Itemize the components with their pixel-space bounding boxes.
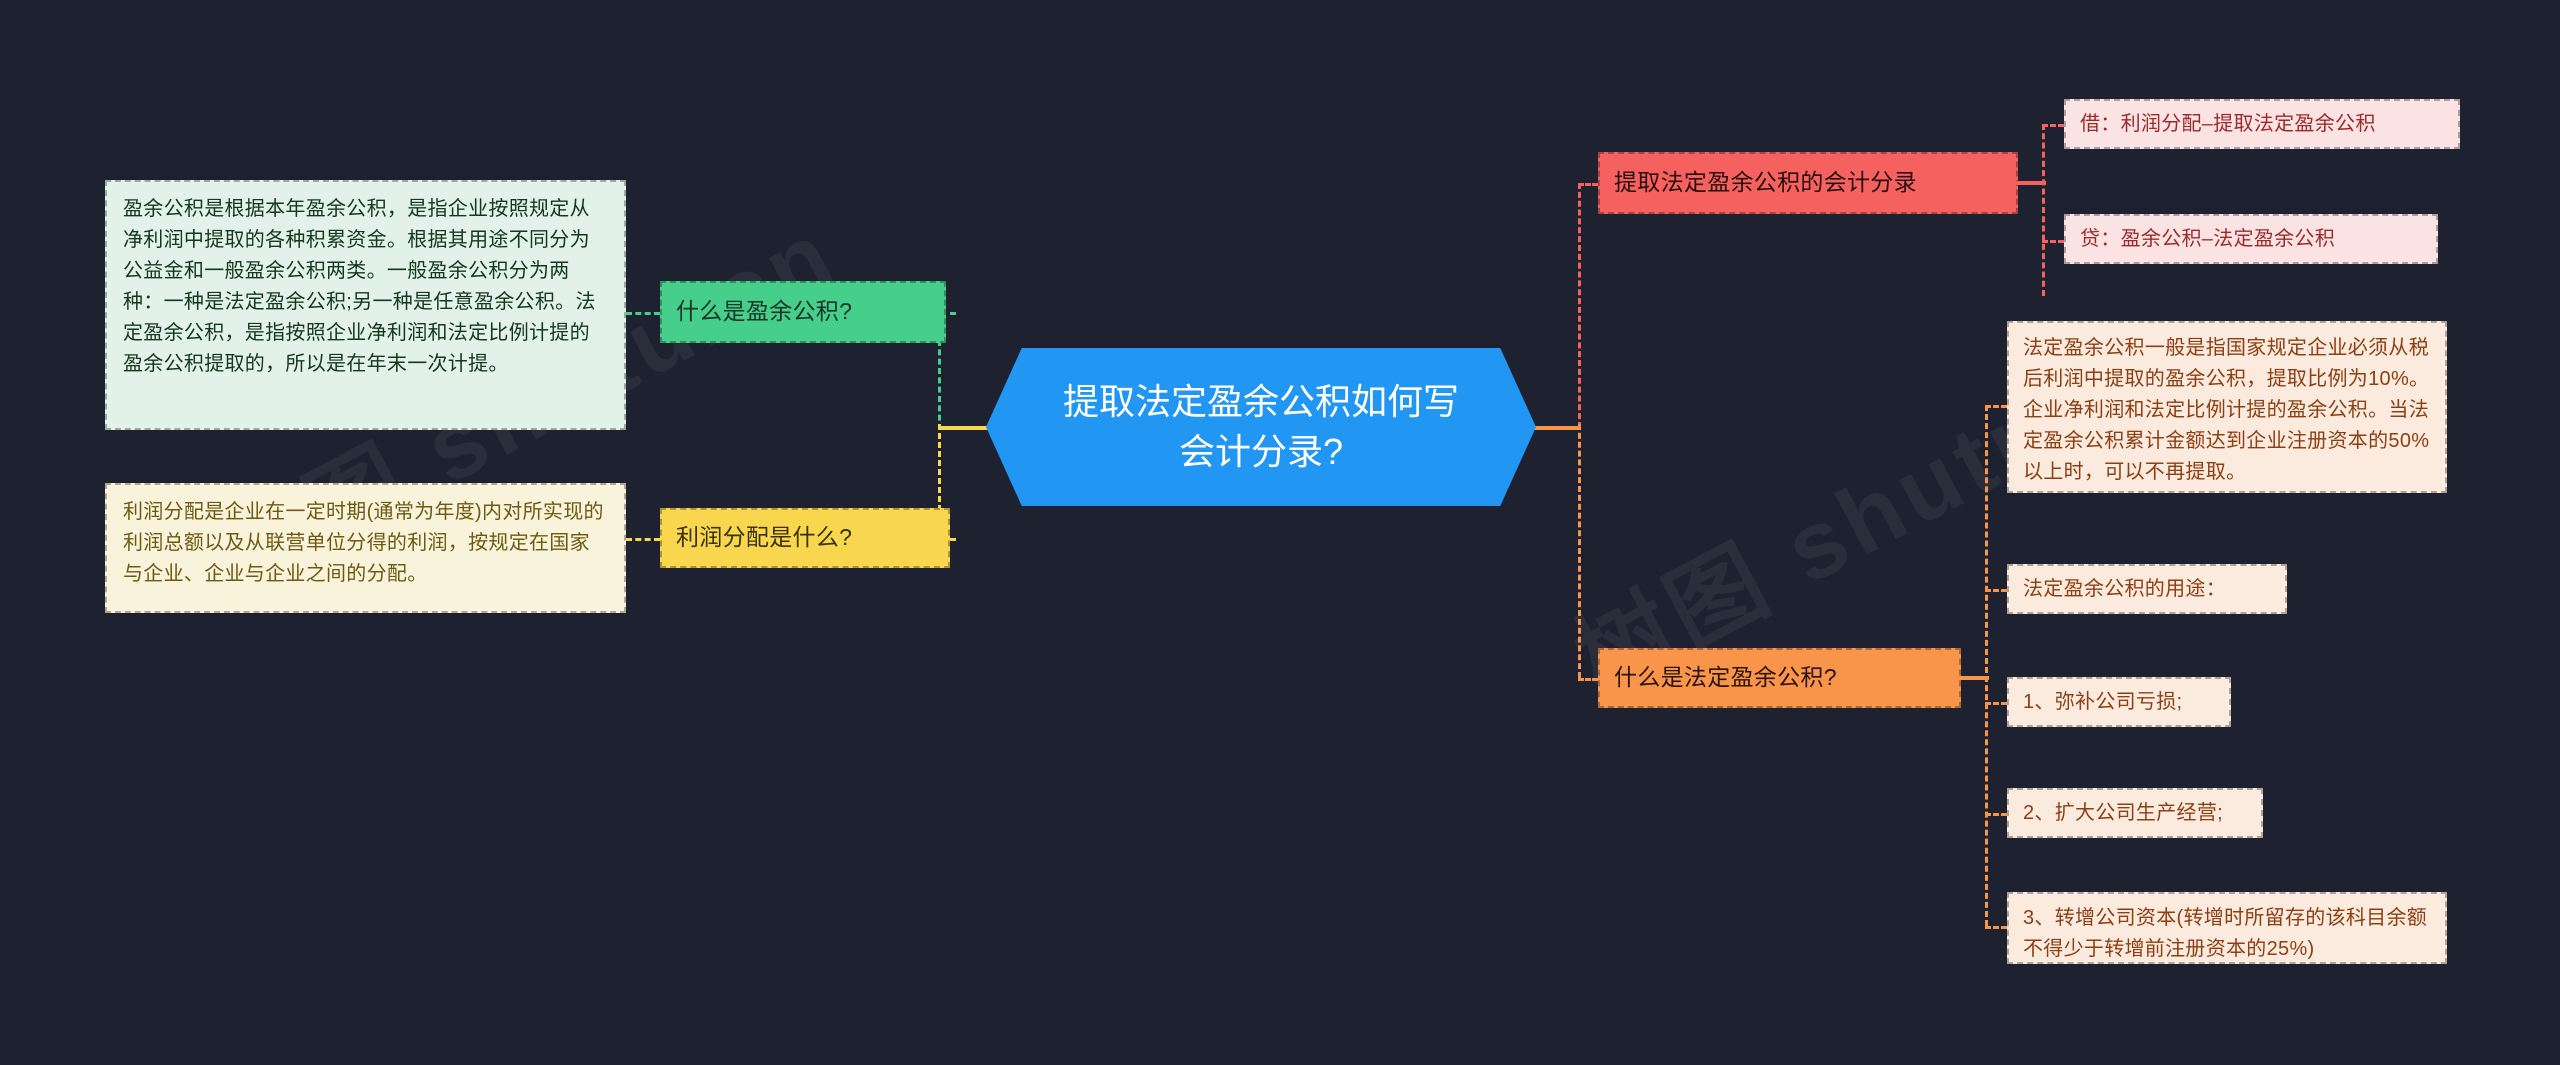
node-debit-entry[interactable]: 借：利润分配–提取法定盈余公积 — [2064, 99, 2460, 149]
red-sub-stub-2 — [2042, 240, 2064, 243]
node-what-is-profit-distribution[interactable]: 利润分配是什么? — [660, 508, 950, 568]
node-label: 什么是盈余公积? — [676, 294, 930, 330]
node-profit-distribution-definition[interactable]: 利润分配是企业在一定时期(通常为年度)内对所实现的利润总额以及从联营单位分得的利… — [105, 483, 626, 613]
node-text: 贷：盈余公积–法定盈余公积 — [2080, 224, 2422, 255]
node-label: 提取法定盈余公积的会计分录 — [1614, 165, 2002, 201]
green-head-to-body-line — [626, 312, 660, 315]
orange-sub-spine — [1985, 405, 1988, 926]
right-stub-orange — [1578, 678, 1598, 681]
orange-sub-stub-5 — [1985, 926, 2007, 929]
node-text: 借：利润分配–提取法定盈余公积 — [2080, 109, 2444, 140]
node-text: 2、扩大公司生产经营; — [2023, 798, 2247, 829]
right-stub-red — [1578, 183, 1598, 186]
central-topic-node[interactable]: 提取法定盈余公积如何写 会计分录? — [986, 348, 1536, 506]
node-statutory-surplus-definition[interactable]: 法定盈余公积一般是指国家规定企业必须从税后利润中提取的盈余公积，提取比例为10%… — [2007, 321, 2447, 493]
node-text: 利润分配是企业在一定时期(通常为年度)内对所实现的利润总额以及从联营单位分得的利… — [123, 497, 608, 590]
node-label: 什么是法定盈余公积? — [1614, 660, 1945, 696]
node-text: 1、弥补公司亏损; — [2023, 687, 2215, 718]
node-credit-entry[interactable]: 贷：盈余公积–法定盈余公积 — [2064, 214, 2438, 264]
node-usage-heading[interactable]: 法定盈余公积的用途： — [2007, 564, 2287, 614]
mindmap-canvas: 树图 shutu.cn 树图 shutu.cn 什么是盈余公积? 盈余公积是根据… — [0, 0, 2560, 1065]
node-text: 3、转增公司资本(转增时所留存的该科目余额不得少于转增前注册资本的25%) — [2023, 903, 2431, 965]
node-surplus-reserve-definition[interactable]: 盈余公积是根据本年盈余公积，是指企业按照规定从净利润中提取的各种积累资金。根据其… — [105, 180, 626, 430]
node-accounting-entry[interactable]: 提取法定盈余公积的会计分录 — [1598, 152, 2018, 214]
orange-sub-stub-1 — [1985, 405, 2007, 408]
node-usage-item-2[interactable]: 2、扩大公司生产经营; — [2007, 788, 2263, 838]
right-spine-lower — [1578, 424, 1581, 678]
red-sub-stub-1 — [2042, 124, 2064, 127]
central-topic-line1: 提取法定盈余公积如何写 — [1063, 377, 1459, 427]
central-topic-line2: 会计分录? — [1063, 427, 1459, 477]
node-usage-item-1[interactable]: 1、弥补公司亏损; — [2007, 677, 2231, 727]
node-text: 法定盈余公积一般是指国家规定企业必须从税后利润中提取的盈余公积，提取比例为10%… — [2023, 333, 2431, 488]
left-stub-to-center — [938, 426, 994, 430]
node-label: 利润分配是什么? — [676, 520, 934, 556]
orange-sub-stub-4 — [1985, 813, 2007, 816]
orange-sub-stub-3 — [1985, 702, 2007, 705]
right-spine-upper — [1578, 183, 1581, 428]
orange-sub-stub-2 — [1985, 589, 2007, 592]
node-what-is-statutory-surplus-reserve[interactable]: 什么是法定盈余公积? — [1598, 648, 1961, 708]
node-text: 法定盈余公积的用途： — [2023, 574, 2271, 605]
right-stub-to-center — [1534, 426, 1580, 430]
node-usage-item-3[interactable]: 3、转增公司资本(转增时所留存的该科目余额不得少于转增前注册资本的25%) — [2007, 892, 2447, 964]
node-text: 盈余公积是根据本年盈余公积，是指企业按照规定从净利润中提取的各种积累资金。根据其… — [123, 194, 608, 380]
yellow-head-to-body-line — [626, 538, 660, 541]
node-what-is-surplus-reserve[interactable]: 什么是盈余公积? — [660, 281, 946, 343]
red-sub-spine — [2042, 124, 2045, 296]
